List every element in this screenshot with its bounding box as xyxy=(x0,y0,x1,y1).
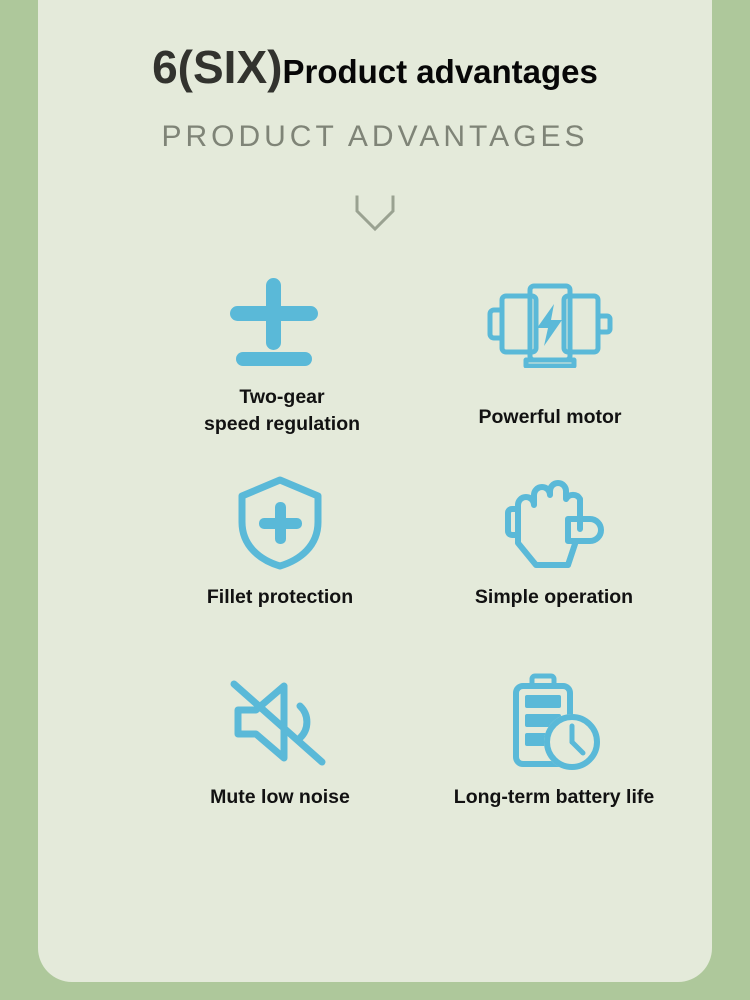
battery-clock-icon xyxy=(504,672,604,772)
features-row: Fillet protection xyxy=(38,468,712,668)
features-row: Two-gear speed regulation xyxy=(38,268,712,468)
page-title-text: Product advantages xyxy=(282,53,597,90)
feature-item-powerful-motor[interactable]: Powerful motor xyxy=(408,268,708,468)
features-grid: Two-gear speed regulation xyxy=(38,268,712,868)
features-row: Mute low noise xyxy=(38,668,712,868)
feature-label: Mute low noise xyxy=(130,784,430,811)
divider xyxy=(38,192,712,236)
chevron-down-icon xyxy=(352,192,398,236)
feature-icon-wrap xyxy=(400,268,700,376)
page-root: 6(SIX)Product advantages PRODUCT ADVANTA… xyxy=(0,0,750,1000)
lightning-bolt-icon xyxy=(537,304,562,346)
feature-item-simple-operation[interactable]: Simple operation xyxy=(408,468,708,668)
feature-icon-wrap xyxy=(404,668,704,776)
feature-icon-wrap xyxy=(130,668,430,776)
content-panel: 6(SIX)Product advantages PRODUCT ADVANTA… xyxy=(38,0,712,982)
section-number-badge: 6(SIX) xyxy=(152,41,282,93)
feature-label: Two-gear speed regulation xyxy=(132,384,432,438)
feature-item-fillet-protection[interactable]: Fillet protection xyxy=(146,468,446,668)
feature-item-mute-low-noise[interactable]: Mute low noise xyxy=(146,668,446,868)
plus-minus-icon xyxy=(222,274,326,370)
feature-item-long-term-battery-life[interactable]: Long-term battery life xyxy=(408,668,708,868)
feature-icon-wrap xyxy=(130,468,430,576)
feature-label: Simple operation xyxy=(404,584,704,611)
hand-touch-icon xyxy=(502,473,606,571)
feature-label: Fillet protection xyxy=(130,584,430,611)
shield-plus-icon xyxy=(232,474,328,570)
mute-speaker-icon xyxy=(226,674,334,770)
feature-label: Long-term battery life xyxy=(404,784,704,811)
feature-icon-wrap xyxy=(124,268,424,376)
feature-icon-wrap xyxy=(404,468,704,576)
page-subtitle: PRODUCT ADVANTAGES xyxy=(38,120,712,154)
page-title: 6(SIX)Product advantages xyxy=(38,44,712,90)
feature-label: Powerful motor xyxy=(400,404,700,431)
motor-icon xyxy=(482,276,618,368)
